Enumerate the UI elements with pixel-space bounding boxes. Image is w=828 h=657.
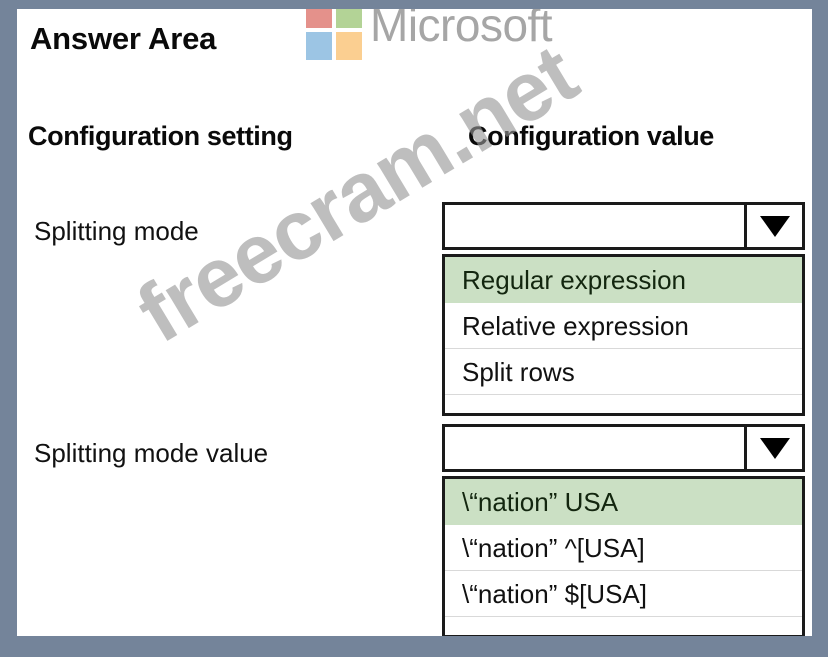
- option-list-filler: [445, 395, 802, 413]
- row-label-splitting-mode: Splitting mode: [34, 216, 199, 247]
- dropdown-splitting-mode[interactable]: Regular expression Relative expression S…: [442, 202, 805, 416]
- option-item[interactable]: \“nation” ^[USA]: [445, 525, 802, 571]
- column-header-configuration-value: Configuration value: [468, 121, 714, 152]
- screenshot-frame: Answer Area Microsoft Configuration sett…: [0, 0, 828, 657]
- combobox-splitting-mode-value-value[interactable]: [445, 427, 744, 469]
- microsoft-logo: Microsoft: [306, 9, 596, 72]
- row-label-splitting-mode-value: Splitting mode value: [34, 438, 268, 469]
- combobox-splitting-mode-value[interactable]: [445, 205, 744, 247]
- option-list-filler: [445, 617, 802, 635]
- option-item[interactable]: Relative expression: [445, 303, 802, 349]
- column-header-configuration-setting: Configuration setting: [28, 121, 293, 152]
- logo-square-bottom-right: [336, 32, 362, 60]
- option-item[interactable]: \“nation” $[USA]: [445, 571, 802, 617]
- option-item[interactable]: \“nation” USA: [445, 479, 802, 525]
- option-item[interactable]: Split rows: [445, 349, 802, 395]
- logo-square-bottom-left: [306, 32, 332, 60]
- microsoft-logo-squares: [306, 9, 364, 62]
- caret-glyph: [760, 438, 790, 459]
- option-list-splitting-mode-value[interactable]: \“nation” USA \“nation” ^[USA] \“nation”…: [442, 476, 805, 636]
- caret-glyph: [760, 216, 790, 237]
- dropdown-splitting-mode-value[interactable]: \“nation” USA \“nation” ^[USA] \“nation”…: [442, 424, 805, 636]
- chevron-down-icon[interactable]: [744, 427, 802, 469]
- combobox-splitting-mode-value[interactable]: [442, 424, 805, 472]
- combobox-splitting-mode[interactable]: [442, 202, 805, 250]
- microsoft-wordmark: Microsoft: [370, 9, 552, 48]
- option-list-splitting-mode[interactable]: Regular expression Relative expression S…: [442, 254, 805, 416]
- logo-square-top-right: [336, 9, 362, 28]
- chevron-down-icon[interactable]: [744, 205, 802, 247]
- answer-area-page: Answer Area Microsoft Configuration sett…: [17, 9, 812, 636]
- logo-square-top-left: [306, 9, 332, 28]
- page-title: Answer Area: [30, 21, 216, 57]
- option-item[interactable]: Regular expression: [445, 257, 802, 303]
